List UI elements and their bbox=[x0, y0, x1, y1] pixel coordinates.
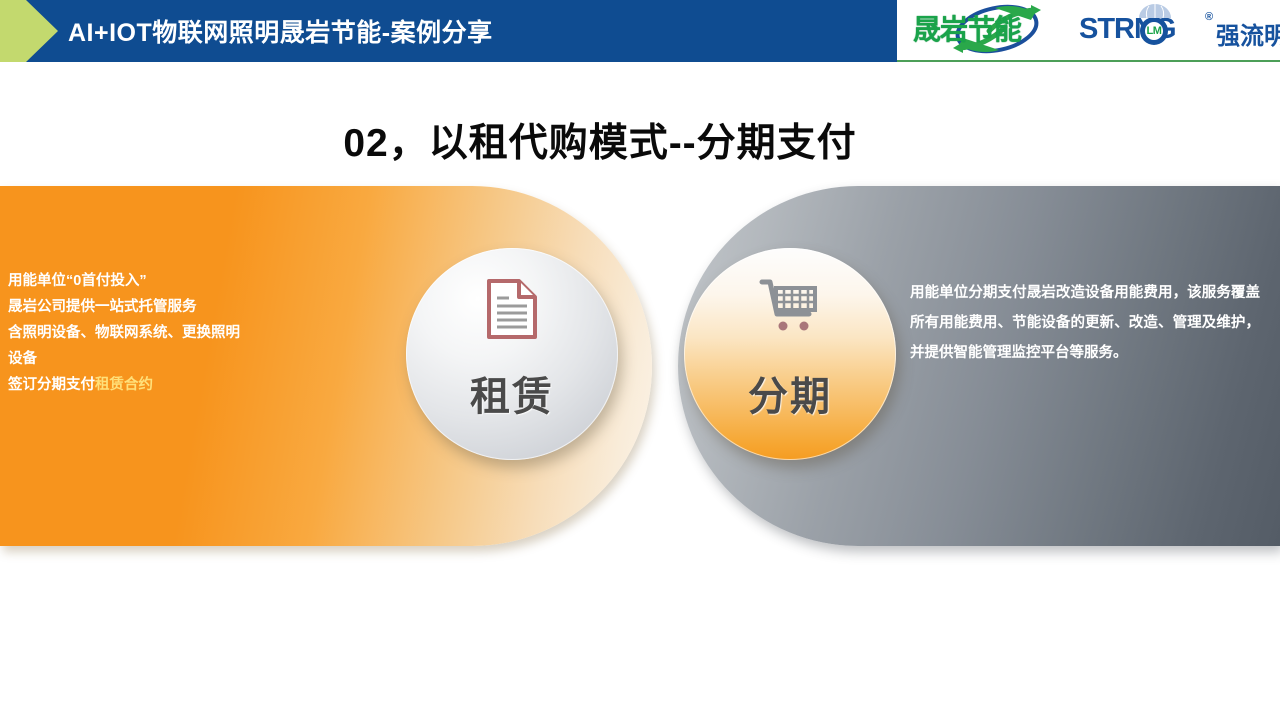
lease-circle[interactable]: 租赁 bbox=[406, 248, 618, 460]
lease-text-line: 签订分期支付租赁合约 bbox=[8, 372, 308, 398]
logo-rays-icon bbox=[1137, 3, 1173, 19]
installment-circle-label: 分期 bbox=[684, 364, 896, 422]
document-icon bbox=[485, 278, 539, 340]
lease-text-highlight: 租赁合约 bbox=[95, 377, 153, 393]
logo-brand-cn2: 强流明照明 bbox=[1216, 16, 1280, 51]
lease-text-line: 晟岩公司提供一站式托管服务 bbox=[8, 294, 308, 320]
logo-lm-badge: LM bbox=[1143, 20, 1165, 42]
installment-panel-text: 用能单位分期支付晟岩改造设备用能费用，该服务覆盖所有用能费用、节能设备的更新、改… bbox=[910, 278, 1260, 368]
slide-canvas: AI+IOT物联网照明晟岩节能-案例分享 晟岩节能 STRNG bbox=[0, 0, 1280, 720]
cart-icon-wrap bbox=[684, 278, 896, 334]
logo-brand-cn: 晟岩节能 bbox=[913, 8, 1021, 48]
slide-title: 02，以租代购模式--分期支付 bbox=[0, 112, 1200, 168]
lease-text-line: 含照明设备、物联网系统、更换照明 bbox=[8, 320, 308, 346]
installment-circle[interactable]: 分期 bbox=[684, 248, 896, 460]
lease-text-plain: 签订分期支付 bbox=[8, 377, 95, 393]
chevron-accent-icon bbox=[0, 0, 58, 62]
company-logo: 晟岩节能 STRNG LM ® 强流明照明 bbox=[897, 0, 1280, 62]
lease-text-line: 设备 bbox=[8, 346, 308, 372]
lease-text-line: 用能单位“0首付投入” bbox=[8, 268, 308, 294]
shopping-cart-icon bbox=[759, 278, 821, 334]
lease-panel-text: 用能单位“0首付投入” 晟岩公司提供一站式托管服务 含照明设备、物联网系统、更换… bbox=[8, 268, 308, 398]
lease-circle-label: 租赁 bbox=[406, 364, 618, 422]
logo-registered-mark: ® bbox=[1205, 11, 1213, 23]
document-icon-wrap bbox=[406, 278, 618, 340]
header-title: AI+IOT物联网照明晟岩节能-案例分享 bbox=[68, 0, 493, 62]
